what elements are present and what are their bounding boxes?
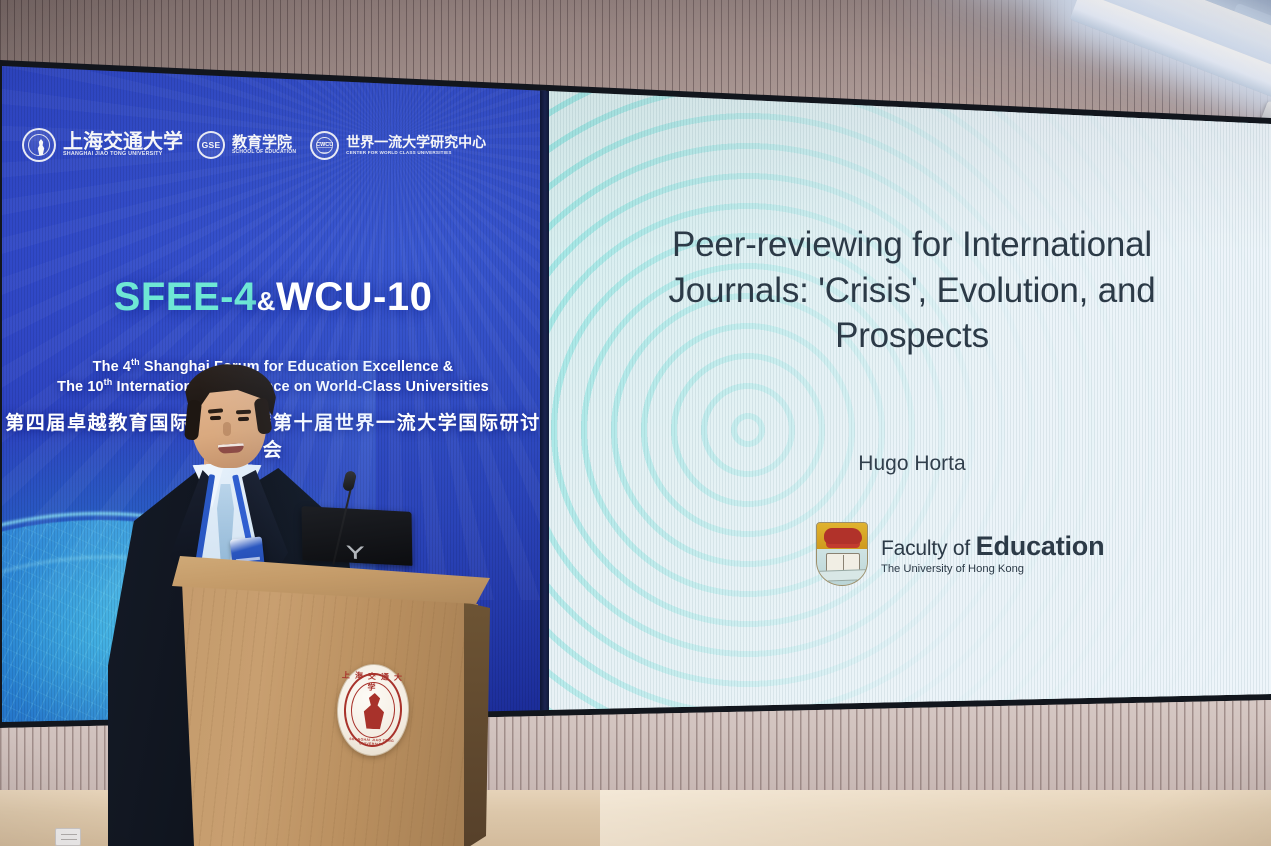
speaker-eyebrow-right: [236, 410, 251, 414]
logo-gse: GSE 教育学院 SCHOOL OF EDUCATION: [197, 131, 296, 159]
logo-gse-english: SCHOOL OF EDUCATION: [232, 150, 296, 156]
lectern-sjtu-emblem-icon: 上海交通大学 SHANGHAI JIAO TONG UNIVERSITY: [335, 662, 411, 757]
gse-seal-text: GSE: [202, 141, 221, 150]
cwcu-seal-text: CWCU: [316, 142, 333, 148]
conference-acronym-wcu: WCU-10: [276, 275, 432, 319]
lectern: 上海交通大学 SHANGHAI JIAO TONG UNIVERSITY: [172, 556, 490, 846]
hku-crest-motto-band: [816, 569, 868, 582]
logo-sjtu: 上海交通大学 SHANGHAI JIAO TONG UNIVERSITY: [22, 128, 183, 162]
hku-crest-lion-icon: [824, 528, 862, 544]
logo-cwcu-english: CENTER FOR WORLD CLASS UNIVERSITIES: [346, 150, 486, 155]
conference-acronym-sfee: SFEE-4: [114, 275, 257, 319]
emblem-chinese-text: 上海交通大学: [339, 670, 410, 695]
speaker-nose: [223, 422, 231, 436]
presentation-author: Hugo Horta: [612, 452, 1212, 476]
speaker-eye-left: [210, 416, 221, 421]
logo-sjtu-english: SHANGHAI JIAO TONG UNIVERSITY: [63, 152, 183, 158]
logo-cwcu: CWCU 世界一流大学研究中心 CENTER FOR WORLD CLASS U…: [310, 131, 486, 160]
hku-university-line: The University of Hong Kong: [881, 564, 1104, 575]
hku-crest-icon: [816, 522, 868, 586]
conference-acronym-title: SFEE-4&WCU-10: [0, 275, 546, 320]
logo-cwcu-chinese: 世界一流大学研究中心: [346, 135, 486, 149]
gse-seal-icon: GSE: [197, 131, 225, 159]
floor-reflection: [600, 790, 1271, 846]
hku-faculty-line: Faculty of Education: [881, 533, 1104, 560]
lectern-wood-grain: [182, 582, 478, 846]
sponsor-logo-row: 上海交通大学 SHANGHAI JIAO TONG UNIVERSITY GSE…: [22, 128, 542, 162]
speaker-eye-right: [238, 417, 249, 422]
logo-gse-chinese: 教育学院: [232, 135, 296, 150]
hku-wordmark: Faculty of Education The University of H…: [881, 533, 1104, 575]
wall-power-outlet-icon: [55, 828, 81, 846]
presentation-scene: 上海交通大学 SHANGHAI JIAO TONG UNIVERSITY GSE…: [0, 0, 1271, 846]
presentation-title: Peer-reviewing for International Journal…: [612, 222, 1212, 359]
hku-logo-lockup: Faculty of Education The University of H…: [816, 522, 1104, 586]
hku-education: Education: [976, 531, 1105, 561]
conference-acronym-ampersand: &: [257, 286, 276, 316]
lectern-side-panel: [464, 600, 490, 846]
hku-faculty-of: Faculty of: [881, 537, 976, 560]
sjtu-seal-icon: [22, 128, 56, 162]
logo-sjtu-chinese: 上海交通大学: [63, 132, 183, 152]
cwcu-seal-icon: CWCU: [310, 131, 339, 160]
